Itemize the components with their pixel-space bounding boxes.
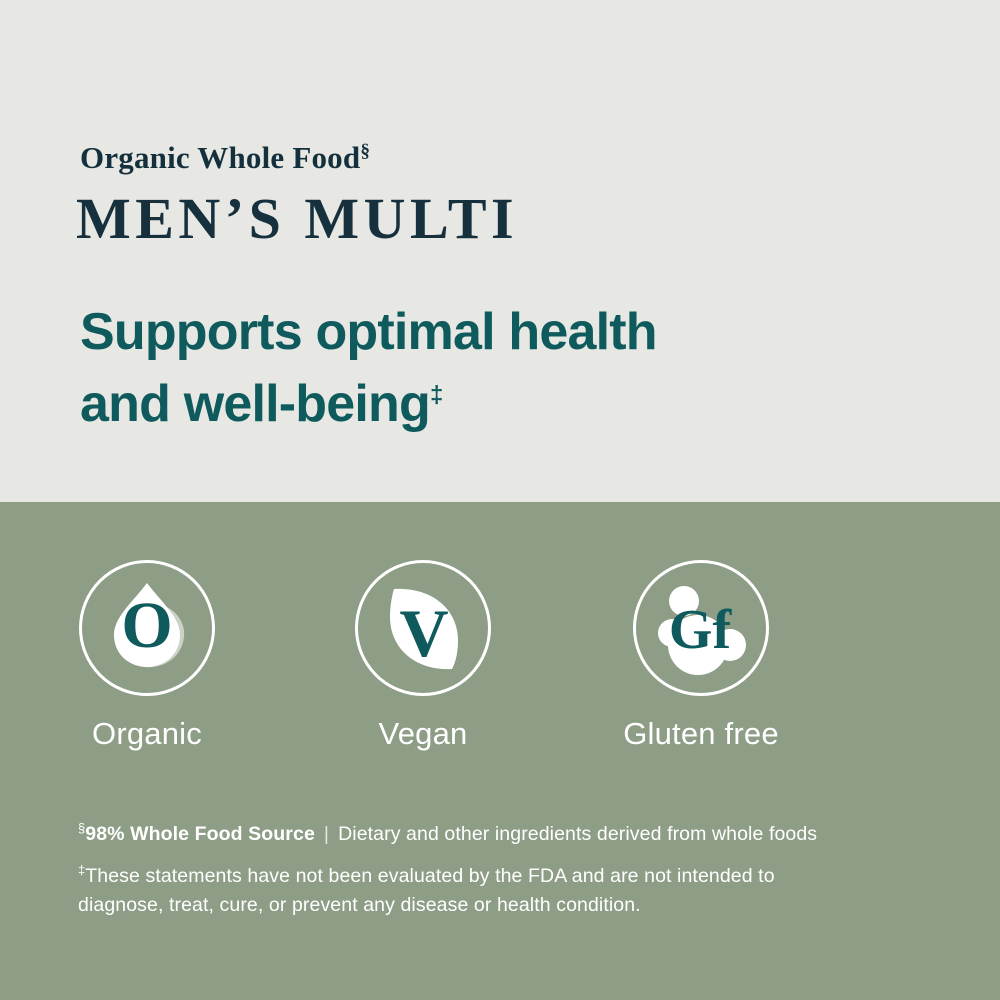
badge-label-organic: Organic bbox=[32, 716, 262, 752]
claim-line-1: Supports optimal health bbox=[80, 303, 657, 361]
eyebrow-label: Organic Whole Food bbox=[80, 140, 360, 175]
badge-vegan: V Vegan bbox=[308, 560, 538, 752]
eyebrow-text: Organic Whole Food§ bbox=[80, 140, 370, 176]
eyebrow-footnote-marker: § bbox=[360, 141, 370, 162]
claim-line-2: and well-being bbox=[80, 375, 430, 433]
footnote-whole-food-source: §98% Whole Food Source|Dietary and other… bbox=[78, 820, 938, 848]
footnotes: §98% Whole Food Source|Dietary and other… bbox=[78, 820, 938, 920]
vegan-leaf-icon: V bbox=[358, 563, 488, 693]
footnote-source-strong: 98% Whole Food Source bbox=[85, 823, 315, 845]
claim-text: Supports optimal health and well-being‡ bbox=[80, 296, 860, 440]
badge-organic: O Organic bbox=[32, 560, 262, 752]
footnote-source-text: Dietary and other ingredients derived fr… bbox=[338, 823, 817, 845]
organic-letter: O bbox=[121, 589, 172, 662]
claim-footnote-marker: ‡ bbox=[430, 382, 443, 409]
badge-ring-vegan: V bbox=[355, 560, 491, 696]
badge-ring-gluten-free: Gf bbox=[633, 560, 769, 696]
badge-gluten-free: Gf Gluten free bbox=[586, 560, 816, 752]
footnote-fda-line-1: These statements have not been evaluated… bbox=[85, 865, 774, 887]
product-feature-panel: Organic Whole Food§ MEN’S MULTI Supports… bbox=[0, 0, 1000, 1000]
gluten-free-grain-icon: Gf bbox=[636, 563, 766, 693]
top-section: Organic Whole Food§ MEN’S MULTI Supports… bbox=[0, 0, 1000, 502]
badge-label-vegan: Vegan bbox=[308, 716, 538, 752]
gluten-free-letters: Gf bbox=[669, 599, 733, 661]
footnote-fda-line-2: diagnose, treat, cure, or prevent any di… bbox=[78, 891, 641, 920]
badge-ring-organic: O bbox=[79, 560, 215, 696]
badge-label-gluten-free: Gluten free bbox=[586, 716, 816, 752]
certification-badges: O Organic V Vegan bbox=[0, 560, 1000, 770]
vegan-letter: V bbox=[399, 595, 448, 671]
footnote-separator: | bbox=[315, 820, 338, 848]
organic-drop-leaf-icon: O bbox=[82, 563, 212, 693]
footnote-fda-disclaimer: ‡These statements have not been evaluate… bbox=[78, 862, 868, 920]
page-title: MEN’S MULTI bbox=[76, 185, 518, 252]
bottom-section: O Organic V Vegan bbox=[0, 502, 1000, 1000]
